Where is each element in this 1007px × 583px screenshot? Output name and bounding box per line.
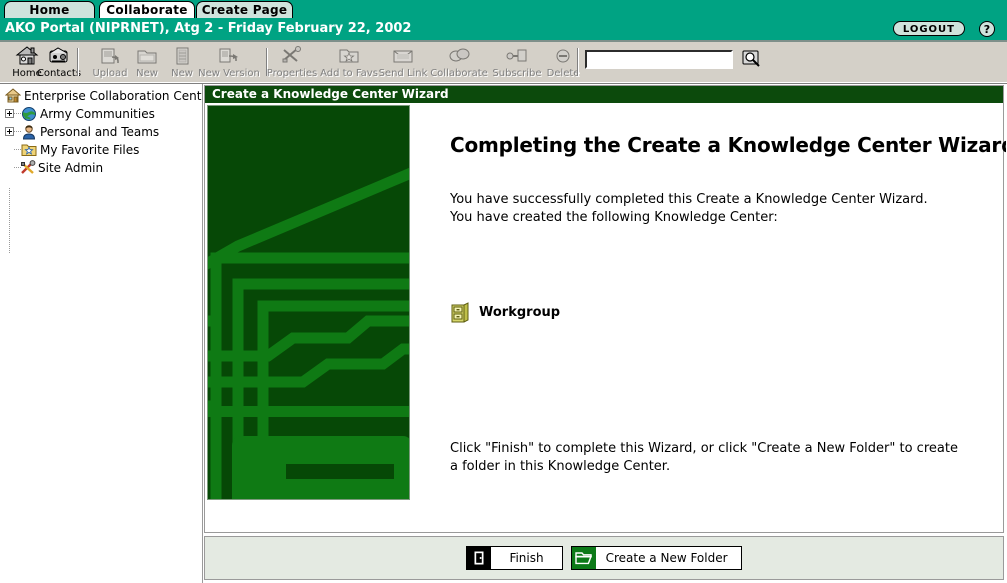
wizard-panel: Create a Knowledge Center Wizard [204, 85, 1004, 533]
tab-home[interactable]: Home [4, 1, 95, 18]
toolbar-button-delete[interactable]: Delete [540, 44, 586, 80]
delete-icon [551, 45, 575, 67]
wizard-footer: Finish Create a New Folder [204, 536, 1004, 580]
finish-button-label: Finish [491, 547, 561, 569]
new-version-icon [217, 45, 241, 67]
wizard-banner-graphic [207, 105, 410, 500]
created-item-name: Workgroup [479, 305, 560, 320]
toolbar-button-properties[interactable]: Properties [262, 44, 322, 80]
create-new-folder-label: Create a New Folder [596, 547, 741, 569]
add-to-favs-icon [337, 45, 361, 67]
toolbar-separator [577, 48, 579, 76]
sidebar-item-label: Personal and Teams [40, 125, 159, 139]
finish-button[interactable]: Finish [466, 546, 562, 570]
toolbar-separator [77, 48, 79, 76]
sidebar-item-personal-and-teams[interactable]: Personal and Teams [0, 123, 202, 141]
page-title: AKO Portal (NIPRNET), Atg 2 - Friday Feb… [5, 21, 411, 36]
collaborate-icon [447, 45, 471, 67]
wizard-heading: Completing the Create a Knowledge Center… [450, 133, 1007, 157]
sidebar-item-label: Enterprise Collaboration Center [24, 89, 203, 103]
wizard-body: Completing the Create a Knowledge Center… [205, 103, 1003, 532]
toolbar-button-send-link[interactable]: Send Link [376, 44, 430, 80]
toolbar-label: Delete [540, 69, 586, 79]
tree-connector [9, 188, 10, 254]
exit-door-icon [467, 547, 491, 569]
properties-icon [280, 45, 304, 67]
toolbar-label: Properties [262, 69, 322, 79]
open-folder-icon [572, 547, 596, 569]
wizard-panel-title: Create a Knowledge Center Wizard [205, 86, 1003, 103]
toolbar-label: Subscribe [488, 69, 546, 79]
title-bar: AKO Portal (NIPRNET), Atg 2 - Friday Feb… [0, 18, 1007, 40]
toolbar-button-subscribe[interactable]: Subscribe [488, 44, 546, 80]
tab-collaborate[interactable]: Collaborate [99, 1, 195, 18]
toolbar-button-collaborate[interactable]: Collaborate [428, 44, 490, 80]
toolbar-button-new-version[interactable]: New Version [196, 44, 262, 80]
send-link-icon [391, 45, 415, 67]
sidebar-item-site-admin[interactable]: Site Admin [0, 159, 202, 177]
sidebar-item-army-communities[interactable]: Army Communities [0, 105, 202, 123]
tab-create-page[interactable]: Create Page [196, 1, 293, 18]
toolbar: Home Contacts [0, 42, 1007, 84]
expand-plus-icon[interactable] [5, 109, 14, 118]
toolbar-button-add-to-favs[interactable]: Add to Favs [320, 44, 378, 80]
toolbar-label: New Version [196, 69, 262, 79]
wizard-paragraph-1: You have successfully completed this Cre… [450, 191, 950, 227]
main-content-area: Create a Knowledge Center Wizard [203, 84, 1007, 583]
wizard-paragraph-2: Click "Finish" to complete this Wizard, … [450, 440, 960, 476]
logout-button[interactable]: LOGOUT [893, 21, 965, 36]
navigation-sidebar: Enterprise Collaboration Center Army Com… [0, 84, 203, 583]
search-input[interactable] [585, 50, 733, 69]
sidebar-item-label: Site Admin [38, 161, 103, 175]
contacts-icon [47, 45, 71, 67]
sidebar-item-label: Army Communities [40, 107, 155, 121]
ako-portal-window: Home Collaborate Create Page AKO Portal … [0, 0, 1007, 583]
search-icon[interactable] [741, 48, 763, 70]
tools-icon [20, 160, 36, 176]
toolbar-label: Collaborate [428, 69, 490, 79]
toolbar-label: Send Link [376, 69, 430, 79]
sidebar-item-label: My Favorite Files [40, 143, 139, 157]
globe-icon [21, 106, 37, 122]
toolbar-label: Add to Favs [320, 69, 378, 79]
house-icon [5, 88, 21, 104]
sidebar-item-enterprise-collaboration-center[interactable]: Enterprise Collaboration Center [0, 87, 202, 105]
person-icon [21, 124, 37, 140]
file-cabinet-icon [450, 302, 470, 324]
create-new-folder-button[interactable]: Create a New Folder [571, 546, 742, 570]
star-folder-icon [21, 142, 37, 158]
expand-plus-icon[interactable] [5, 127, 14, 136]
tab-strip: Home Collaborate Create Page [0, 0, 1007, 18]
upload-icon [98, 45, 122, 67]
sidebar-item-my-favorite-files[interactable]: My Favorite Files [0, 141, 202, 159]
wizard-text-content: Completing the Create a Knowledge Center… [417, 103, 999, 532]
new-document-icon [170, 45, 194, 67]
subscribe-icon [505, 45, 529, 67]
wizard-button-row: Finish Create a New Folder [205, 537, 1003, 579]
help-icon[interactable]: ? [979, 21, 995, 37]
